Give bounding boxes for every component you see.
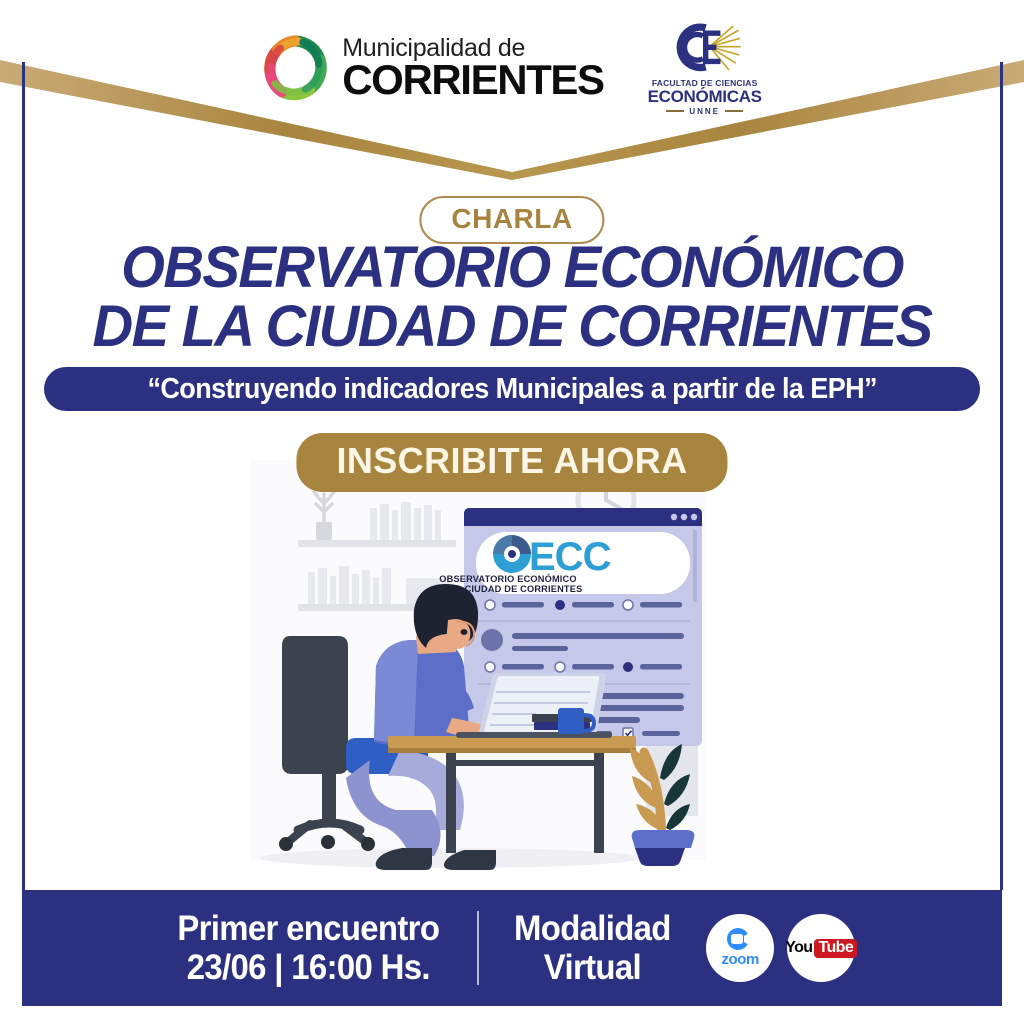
footer-modality-info: Modalidad Virtual	[509, 909, 676, 987]
zoom-logo-button[interactable]: zoom	[706, 914, 774, 982]
meeting-line2: 23/06 | 16:00 Hs.	[177, 948, 439, 987]
aperture-eye-icon	[493, 535, 531, 573]
youtube-label-you: You	[785, 939, 812, 957]
header-logos: Municipalidad de CORRIENTES	[0, 14, 1024, 122]
rule-right	[725, 110, 743, 112]
rule-left	[666, 110, 684, 112]
svg-text:ECC: ECC	[529, 535, 611, 579]
modality-line2: Virtual	[514, 948, 671, 987]
title-line-1: OBSERVATORIO ECONÓMICO	[15, 238, 1008, 297]
ce-monogram-sunburst-icon	[668, 21, 742, 75]
municipality-logo: Municipalidad de CORRIENTES	[262, 35, 603, 101]
meeting-line1: Primer encuentro	[177, 909, 439, 948]
youtube-logo-button[interactable]: You Tube	[787, 914, 855, 982]
university-line3-row: UNNE	[666, 107, 743, 116]
multicolor-ring-icon	[262, 35, 328, 101]
zoom-camera-icon	[723, 928, 757, 950]
university-line3: UNNE	[689, 107, 720, 116]
municipality-line2: CORRIENTES	[342, 59, 603, 101]
title-line-2: DE LA CIUDAD DE CORRIENTES	[15, 297, 1008, 356]
footer-meeting-info: Primer encuentro 23/06 | 16:00 Hs.	[169, 909, 448, 987]
university-line1: FACULTAD DE CIENCIAS	[652, 78, 758, 88]
modality-line1: Modalidad	[514, 909, 671, 948]
footer-platform-logos: zoom You Tube	[706, 914, 855, 982]
page-title: OBSERVATORIO ECONÓMICO DE LA CIUDAD DE C…	[0, 238, 1024, 356]
footer-divider	[477, 911, 479, 985]
footer-bar: Primer encuentro 23/06 | 16:00 Hs. Modal…	[22, 890, 1002, 1006]
frame-line-left	[22, 62, 25, 890]
svg-text:OBSERVATORIO ECONÓMICO: OBSERVATORIO ECONÓMICO	[439, 573, 576, 584]
frame-line-right	[1000, 62, 1003, 890]
youtube-label-tube: Tube	[814, 939, 857, 958]
university-line2: ECONÓMICAS	[648, 88, 762, 105]
subtitle-text: “Construyendo indicadores Municipales a …	[147, 373, 877, 406]
inscribite-ahora-button[interactable]: INSCRIBITE AHORA	[296, 433, 727, 492]
zoom-label: zoom	[721, 951, 759, 968]
poster-canvas: Municipalidad de CORRIENTES	[0, 0, 1024, 1024]
subtitle-bar: “Construyendo indicadores Municipales a …	[44, 367, 980, 411]
university-logo: FACULTAD DE CIENCIAS ECONÓMICAS UNNE	[648, 21, 762, 116]
illustration-person-at-desk: ECC OBSERVATORIO ECONÓMICO DE LA CIUDAD …	[250, 460, 730, 892]
